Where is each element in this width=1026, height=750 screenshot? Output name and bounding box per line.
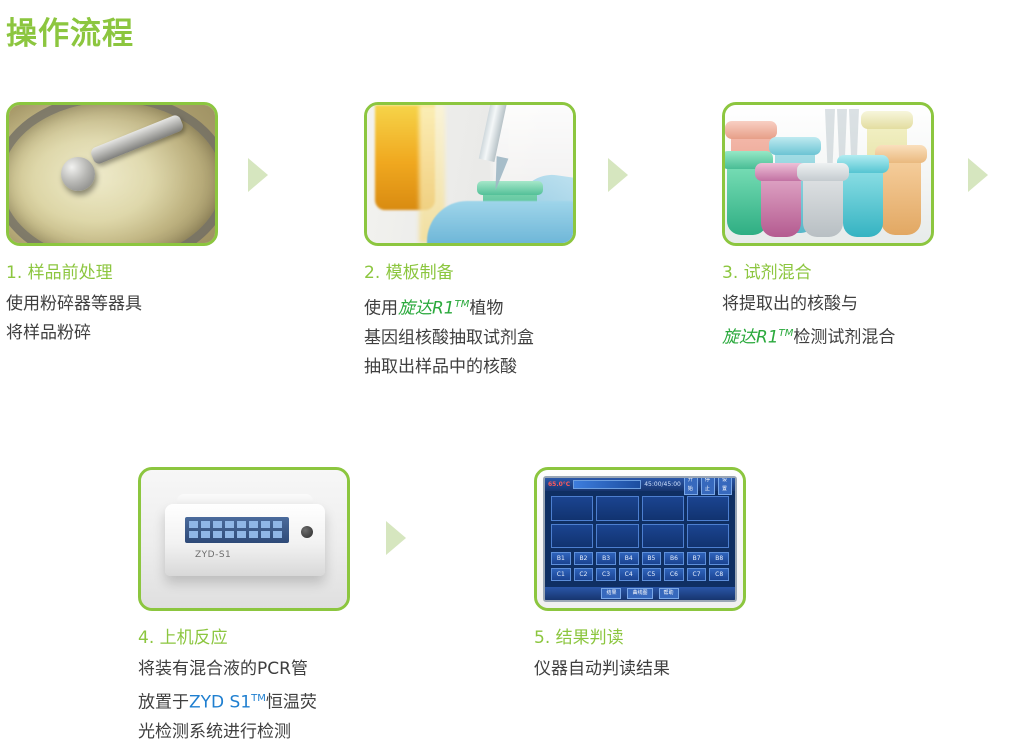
progress-bar [573, 480, 641, 489]
step-3: 3. 试剂混合 将提取出的核酸与 旋达R1TM检测试剂混合 [722, 102, 934, 353]
trademark-mark: TM [455, 299, 470, 310]
well-b3[interactable]: B3 [596, 552, 616, 565]
tube-clear-shape [803, 175, 843, 237]
tube-magenta-shape [761, 175, 801, 237]
settings-button[interactable]: 设置 [718, 476, 732, 495]
step-4-line-1: 将装有混合液的PCR管 [138, 655, 350, 684]
step-4-title: 4. 上机反应 [138, 623, 350, 648]
well-row-c: C1 C2 C3 C4 C5 C6 C7 C8 [551, 568, 729, 581]
well-b7[interactable]: B7 [687, 552, 707, 565]
results-button[interactable]: 结果 [601, 588, 621, 599]
text-run: 抽取出样品中的核酸 [364, 357, 517, 377]
software-toolbar: 65.0°C 45:00/45:00 开始 停止 设置 [545, 478, 735, 491]
step-1-line-2: 将样品粉碎 [6, 319, 218, 348]
well-b8[interactable]: B8 [709, 552, 729, 565]
step-1-title: 1. 样品前处理 [6, 258, 218, 283]
arrow-1-to-2-icon [248, 158, 268, 192]
step-2-line-2: 基因组核酸抽取试剂盒 [364, 324, 576, 353]
step-2-line-1: 使用旋达R1TM植物 [364, 290, 576, 324]
text-run: 植物 [469, 299, 503, 319]
step-1: 1. 样品前处理 使用粉碎器等器具 将样品粉碎 [6, 102, 218, 348]
arrow-3-to-4-icon [968, 158, 988, 192]
step-4-description: 将装有混合液的PCR管 放置于ZYD S1TM恒温荧 光检测系统进行检测 [138, 655, 350, 747]
temperature-readout: 65.0°C [548, 481, 570, 488]
text-run: 检测试剂混合 [793, 328, 895, 348]
help-button[interactable]: 帮助 [659, 588, 679, 599]
step-3-line-1: 将提取出的核酸与 [722, 290, 934, 319]
step-5-image: 65.0°C 45:00/45:00 开始 停止 设置 B1 B2 B3 B4 … [534, 467, 746, 611]
step-5: 65.0°C 45:00/45:00 开始 停止 设置 B1 B2 B3 B4 … [534, 467, 746, 684]
trademark-mark: TM [251, 693, 266, 704]
step-5-line-1: 仪器自动判读结果 [534, 655, 746, 684]
well-c7[interactable]: C7 [687, 568, 707, 581]
well-b4[interactable]: B4 [619, 552, 639, 565]
well-c2[interactable]: C2 [574, 568, 594, 581]
step-4-line-2: 放置于ZYD S1TM恒温荧 [138, 684, 350, 718]
pestle-head-shape [61, 157, 95, 191]
step-2-image [364, 102, 576, 246]
well-c4[interactable]: C4 [619, 568, 639, 581]
step-1-line-1: 使用粉碎器等器具 [6, 290, 218, 319]
step-1-description: 使用粉碎器等器具 将样品粉碎 [6, 290, 218, 348]
instrument-model-label: ZYD-S1 [195, 550, 231, 560]
text-run: 将样品粉碎 [6, 323, 91, 343]
step-2-description: 使用旋达R1TM植物 基因组核酸抽取试剂盒 抽取出样品中的核酸 [364, 290, 576, 382]
text-run: 将提取出的核酸与 [722, 294, 858, 314]
step-3-title: 3. 试剂混合 [722, 258, 934, 283]
text-run: 恒温荧 [266, 693, 317, 713]
well-c8[interactable]: C8 [709, 568, 729, 581]
well-row-b: B1 B2 B3 B4 B5 B6 B7 B8 [551, 552, 729, 565]
step-5-title: 5. 结果判读 [534, 623, 746, 648]
text-run: 仪器自动判读结果 [534, 659, 670, 679]
text-run: 使用粉碎器等器具 [6, 294, 142, 314]
step-2-title: 2. 模板制备 [364, 258, 576, 283]
tube-teal-shape [843, 167, 883, 237]
instrument-screen-shape [185, 517, 289, 543]
text-run: 光检测系统进行检测 [138, 722, 291, 742]
text-run: 基因组核酸抽取试剂盒 [364, 328, 534, 348]
step-4: ZYD-S1 4. 上机反应 将装有混合液的PCR管 放置于ZYD S1TM恒温… [138, 467, 350, 747]
instrument-knob-shape [301, 526, 313, 538]
green-tube-lid-shape [477, 181, 543, 195]
curve-button[interactable]: 曲线图 [627, 588, 652, 599]
step-4-line-3: 光检测系统进行检测 [138, 718, 350, 747]
page-title: 操作流程 [6, 8, 134, 53]
well-b1[interactable]: B1 [551, 552, 571, 565]
start-button[interactable]: 开始 [684, 476, 698, 495]
well-c1[interactable]: C1 [551, 568, 571, 581]
step-4-image: ZYD-S1 [138, 467, 350, 611]
step-5-description: 仪器自动判读结果 [534, 655, 746, 684]
gloved-hand-shape [427, 201, 576, 246]
step-3-image [722, 102, 934, 246]
text-run: 放置于 [138, 693, 189, 713]
well-c3[interactable]: C3 [596, 568, 616, 581]
software-screen-shape: 65.0°C 45:00/45:00 开始 停止 设置 B1 B2 B3 B4 … [543, 476, 737, 602]
step-1-image [6, 102, 218, 246]
well-b5[interactable]: B5 [642, 552, 662, 565]
step-3-description: 将提取出的核酸与 旋达R1TM检测试剂混合 [722, 290, 934, 353]
product-name-zyd-s1: ZYD S1 [189, 693, 251, 713]
stop-button[interactable]: 停止 [701, 476, 715, 495]
clock-readout: 45:00/45:00 [644, 481, 681, 488]
step-2: 2. 模板制备 使用旋达R1TM植物 基因组核酸抽取试剂盒 抽取出样品中的核酸 [364, 102, 576, 382]
step-3-line-2: 旋达R1TM检测试剂混合 [722, 319, 934, 353]
trademark-mark: TM [779, 328, 794, 339]
well-c5[interactable]: C5 [642, 568, 662, 581]
arrow-2-to-3-icon [608, 158, 628, 192]
text-run: 将装有混合液的PCR管 [138, 659, 308, 679]
product-name-xuanda-r1: 旋达R1 [722, 328, 779, 348]
well-b2[interactable]: B2 [574, 552, 594, 565]
well-b6[interactable]: B6 [664, 552, 684, 565]
well-c6[interactable]: C6 [664, 568, 684, 581]
text-run: 使用 [364, 299, 398, 319]
arrow-4-to-5-icon [386, 521, 406, 555]
product-name-xuanda-r1: 旋达R1 [398, 299, 455, 319]
software-bottom-bar: 结果 曲线图 帮助 [545, 587, 735, 600]
mortar-rim-shape [6, 102, 218, 246]
curve-panel-grid [551, 496, 729, 548]
step-2-line-3: 抽取出样品中的核酸 [364, 353, 576, 382]
